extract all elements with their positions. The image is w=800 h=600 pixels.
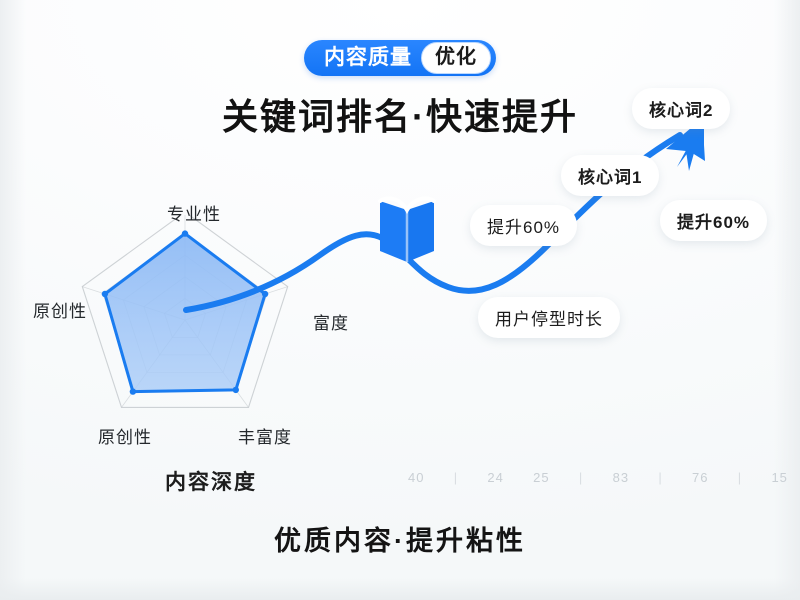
content-quality-badge[interactable]: 内容质量 优化: [304, 40, 496, 76]
faint-axis-value: 83: [613, 470, 629, 485]
faint-axis-value: 25: [533, 470, 549, 485]
radar-label-bottom-right: 丰富度: [238, 423, 292, 448]
faint-axis-tick: |: [738, 470, 742, 485]
pill-keyword-1[interactable]: 核心词1: [561, 155, 659, 196]
radar-vertex: [130, 388, 136, 394]
radar-vertex: [102, 291, 108, 297]
faint-axis-tick: |: [579, 470, 583, 485]
faint-axis-value: 76: [692, 470, 708, 485]
pill-dwell-time[interactable]: 用户停型时长: [478, 297, 620, 338]
right-edge-shade: [774, 0, 800, 600]
content-depth-label: 内容深度: [165, 466, 257, 496]
radar-label-left: 原创性: [33, 297, 87, 322]
book-right-page: [407, 201, 434, 262]
book-left-page: [380, 201, 407, 262]
faint-axis-strip: 40|2425|83|76|15: [408, 466, 788, 488]
badge-main-label: 内容质量: [324, 44, 412, 72]
open-book-icon: [376, 188, 438, 268]
faint-axis-tick: |: [658, 470, 662, 485]
radar-label-bottom-left: 原创性: [98, 423, 152, 448]
pill-keyword-2[interactable]: 核心词2: [632, 88, 730, 129]
pill-uplift-left[interactable]: 提升60%: [470, 205, 577, 246]
radar-vertex: [233, 387, 239, 393]
faint-axis-value: 15: [771, 470, 787, 485]
bottom-edge-shade: [0, 578, 800, 600]
infographic-canvas: 内容质量 优化 关键词排名·快速提升 专业性 富度 丰富度 原创性 原创性 内容…: [0, 0, 800, 600]
faint-axis-value: 24: [487, 470, 503, 485]
badge-chip-label: 优化: [421, 42, 491, 74]
footer-title: 优质内容·提升粘性: [274, 519, 526, 558]
faint-axis-tick: |: [454, 470, 458, 485]
pill-uplift-right[interactable]: 提升60%: [660, 200, 767, 241]
faint-axis-value: 40: [408, 470, 424, 485]
